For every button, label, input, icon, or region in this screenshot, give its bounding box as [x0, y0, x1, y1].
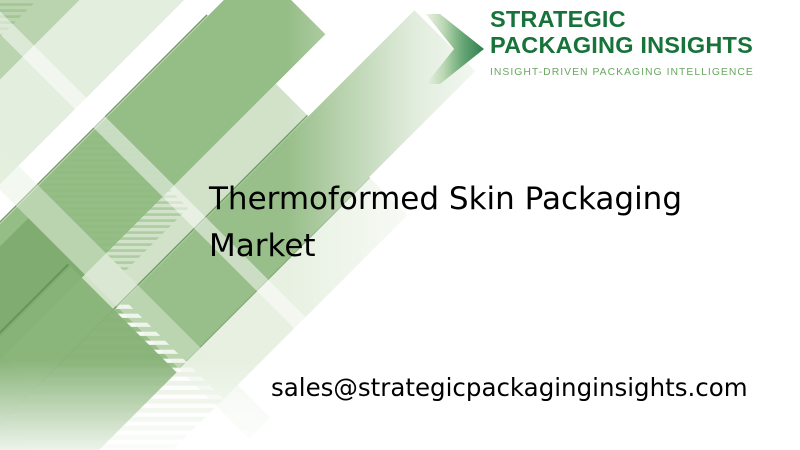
title-slide: STRATEGIC PACKAGING INSIGHTS INSIGHT-DRI… [0, 0, 800, 450]
page-title: Thermoformed Skin Packaging Market [209, 176, 754, 270]
logo-name-line-1: STRATEGIC [490, 6, 762, 32]
logo-wordmark: STRATEGIC PACKAGING INSIGHTS INSIGHT-DRI… [490, 6, 762, 78]
company-logo: STRATEGIC PACKAGING INSIGHTS INSIGHT-DRI… [424, 6, 764, 92]
chevron-right-logo-icon [424, 12, 486, 86]
logo-name-line-2: PACKAGING INSIGHTS [490, 32, 762, 58]
logo-tagline: INSIGHT-DRIVEN PACKAGING INTELLIGENCE [490, 67, 762, 78]
contact-email: sales@strategicpackaginginsights.com [271, 373, 748, 403]
